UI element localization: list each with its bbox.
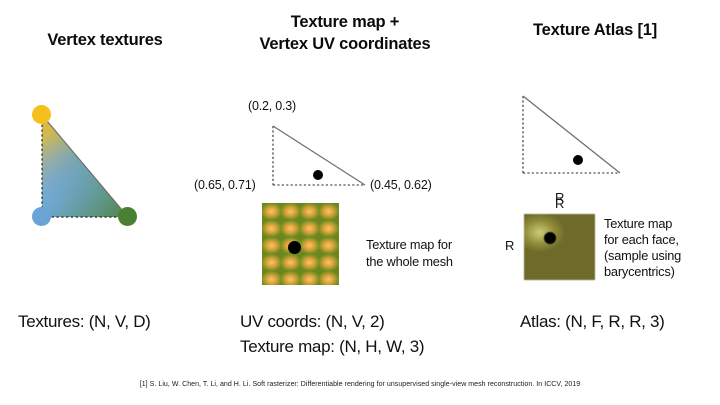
atlas-texture-sample-point: [544, 232, 556, 244]
summary-vertex-textures: Textures: (N, V, D): [18, 310, 151, 335]
summary-uv-coords: UV coords: (N, V, 2): [240, 310, 385, 335]
summary-atlas-shape: Atlas: (N, F, R, R, 3): [520, 310, 665, 335]
texture-map-per-face: [524, 214, 595, 280]
atlas-label-left: R: [505, 238, 514, 253]
atlas-sample-point: [573, 155, 583, 165]
vertex-textures-diagram: [20, 105, 180, 235]
top-yellow-vertex: [32, 105, 51, 124]
atlas-triangle-svg: [515, 88, 630, 183]
atlas-label-top: R: [555, 196, 564, 211]
bottom-left-blue-vertex: [32, 207, 51, 226]
atlas-caption-line2: for each face,: [604, 232, 679, 249]
atlas-caption-line1: Texture map: [604, 216, 672, 233]
footnote-reference: [1] S. Liu, W. Chen, T. Li, and H. Li. S…: [0, 381, 720, 388]
texture-map-caption-line2: the whole mesh: [366, 254, 453, 271]
uv-triangle-svg: [265, 118, 375, 198]
column-title-vertex-textures: Vertex textures: [10, 30, 200, 52]
column-title-texture-atlas: Texture Atlas [1]: [490, 20, 700, 42]
texture-map-whole-mesh: [262, 203, 339, 285]
uv-label-bottom-right: (0.45, 0.62): [370, 178, 432, 192]
slide-canvas: Vertex textures: [0, 0, 720, 405]
uv-triangle-diagram: [265, 118, 375, 203]
texture-map-caption-line1: Texture map for: [366, 237, 452, 254]
column-title-texture-map-line2: Vertex UV coordinates: [230, 34, 460, 56]
uv-sample-point: [313, 170, 323, 180]
column-title-texture-map-line1: Texture map +: [230, 12, 460, 34]
summary-texture-map-shape: Texture map: (N, H, W, 3): [240, 335, 424, 360]
atlas-triangle-diagram: [515, 88, 630, 188]
bottom-right-green-vertex: [118, 207, 137, 226]
atlas-caption-line3: (sample using: [604, 248, 681, 265]
atlas-caption-line4: barycentrics): [604, 264, 675, 281]
uv-label-bottom-left: (0.65, 0.71): [194, 178, 256, 192]
uv-label-apex: (0.2, 0.3): [248, 99, 296, 113]
texture-sample-point: [288, 241, 301, 254]
